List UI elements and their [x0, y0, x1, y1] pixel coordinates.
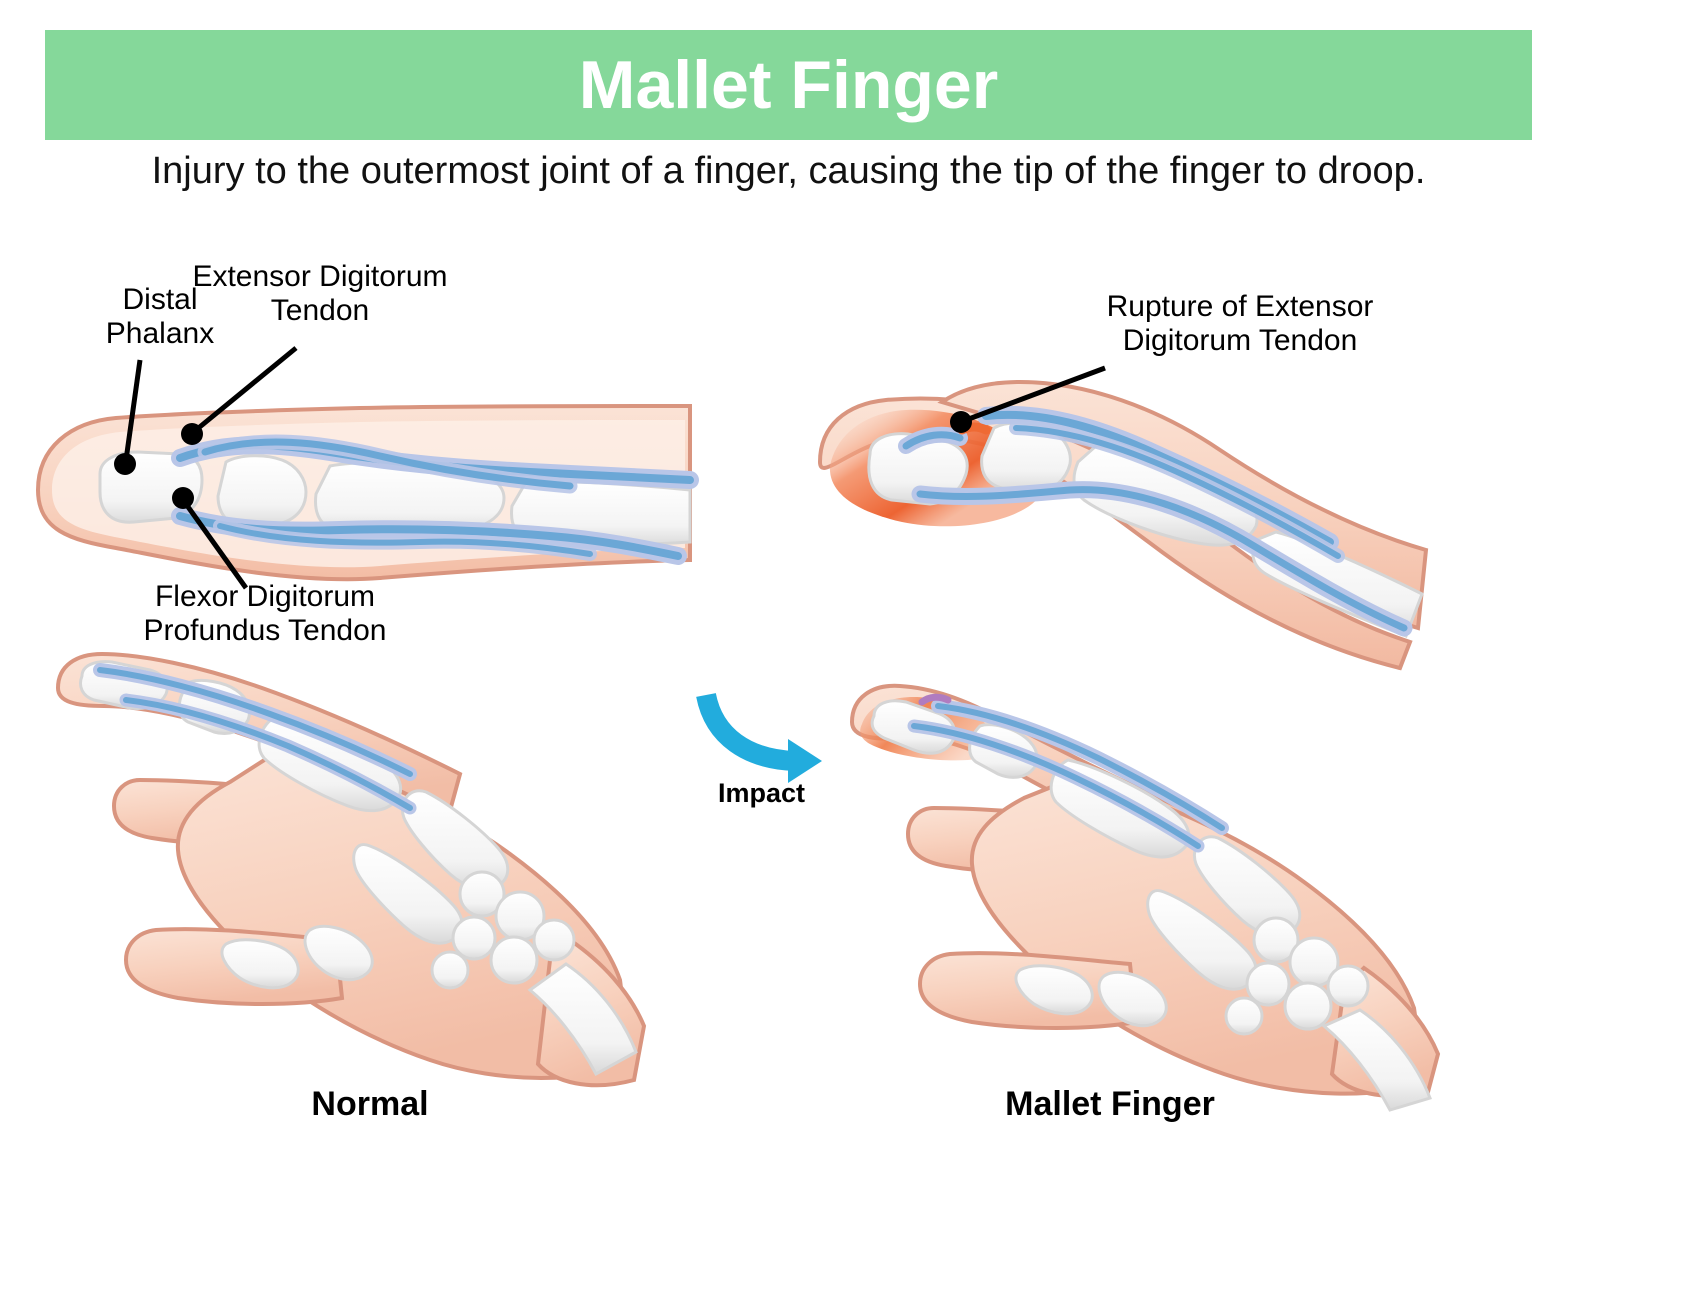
carpal-mallet-6	[1226, 998, 1262, 1034]
arrow-curve	[706, 695, 794, 761]
carpal-mallet-4	[1285, 983, 1331, 1029]
label-flexor-tendon: Flexor Digitorum Profundus Tendon	[120, 580, 410, 647]
label-extensor-tendon-line1: Extensor Digitorum	[185, 260, 455, 294]
normal-hand-diagram	[30, 640, 710, 1110]
impact-arrow	[690, 685, 840, 785]
caption-normal: Normal	[190, 1085, 550, 1124]
mallet-hand-diagram	[830, 640, 1510, 1110]
carpal-bone-4	[491, 937, 537, 983]
label-extensor-tendon: Extensor Digitorum Tendon	[185, 260, 455, 327]
middle-phalanx-bone	[218, 456, 306, 526]
label-rupture-line1: Rupture of Extensor	[1095, 290, 1385, 324]
label-rupture: Rupture of Extensor Digitorum Tendon	[1095, 290, 1385, 357]
label-extensor-tendon-line2: Tendon	[185, 294, 455, 328]
caption-mallet-finger: Mallet Finger	[900, 1085, 1320, 1124]
carpal-bone-5	[534, 920, 574, 960]
label-rupture-line2: Digitorum Tendon	[1095, 324, 1385, 358]
rupture-site	[962, 427, 986, 430]
label-impact: Impact	[718, 778, 805, 809]
label-flexor-tendon-line1: Flexor Digitorum	[120, 580, 410, 614]
arrow-head	[788, 739, 822, 783]
title-banner: Mallet Finger	[45, 30, 1532, 140]
carpal-mallet-3	[1247, 963, 1289, 1005]
label-flexor-tendon-line2: Profundus Tendon	[120, 614, 410, 648]
carpal-bone-6	[432, 952, 468, 988]
subtitle-text: Injury to the outermost joint of a finge…	[45, 150, 1532, 193]
carpal-bone-3	[453, 917, 495, 959]
page-title: Mallet Finger	[579, 51, 998, 119]
carpal-mallet-5	[1328, 966, 1368, 1006]
